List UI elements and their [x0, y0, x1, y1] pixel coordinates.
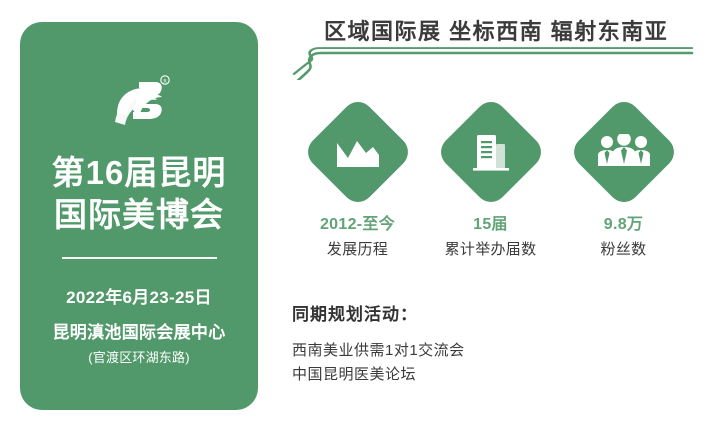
events-list: 西南美业供需1对1交流会 中国昆明医美论坛 [292, 339, 692, 387]
mountain-chart-icon [335, 133, 381, 171]
hook-arrow-underline-icon [286, 40, 694, 80]
stat-badge [567, 95, 680, 208]
card-address: (官渡区环湖东路) [88, 347, 189, 366]
card-title-line2: 国际美博会 [52, 194, 227, 236]
events-title: 同期规划活动： [292, 300, 692, 325]
poster-root: R 第16届昆明 国际美博会 2022年6月23-25日 昆明滇池国际会展中心 … [0, 0, 705, 424]
card-title-line1: 第16届昆明 [52, 152, 227, 194]
document-building-icon [470, 132, 512, 172]
card-title: 第16届昆明 国际美博会 [52, 152, 227, 235]
brand-logo: R [103, 70, 175, 130]
event-item: 中国昆明医美论坛 [292, 363, 692, 387]
registered-mark: R [163, 79, 167, 85]
stat-value: 2012-至今 [320, 210, 395, 234]
stat-item: 2012-至今 发展历程 [294, 112, 421, 259]
right-panel: 区域国际展 坐标西南 辐射东南亚 2012-至今 发展历程 [286, 0, 705, 424]
event-info-card: R 第16届昆明 国际美博会 2022年6月23-25日 昆明滇池国际会展中心 … [20, 22, 258, 410]
events-block: 同期规划活动： 西南美业供需1对1交流会 中国昆明医美论坛 [292, 300, 692, 387]
stat-item: 9.8万 粉丝数 [560, 112, 687, 259]
three-people-group-icon [598, 134, 650, 170]
stats-row: 2012-至今 发展历程 [286, 112, 705, 259]
stat-label: 粉丝数 [601, 238, 647, 259]
stat-label: 累计举办届数 [445, 238, 537, 259]
stylized-s-leaf-logo-icon: R [103, 70, 175, 130]
stat-value: 9.8万 [604, 210, 643, 234]
card-venue: 昆明滇池国际会展中心 [53, 318, 226, 343]
event-item: 西南美业供需1对1交流会 [292, 339, 692, 363]
headline-block: 区域国际展 坐标西南 辐射东南亚 [286, 14, 705, 94]
stat-value: 15届 [473, 210, 508, 234]
stat-label: 发展历程 [327, 238, 388, 259]
card-divider [62, 257, 217, 259]
card-date: 2022年6月23-25日 [66, 283, 212, 308]
headline-text: 区域国际展 坐标西南 辐射东南亚 [324, 14, 668, 46]
stat-badge [434, 95, 547, 208]
stat-item: 15届 累计举办届数 [427, 112, 554, 259]
stat-badge [301, 95, 414, 208]
